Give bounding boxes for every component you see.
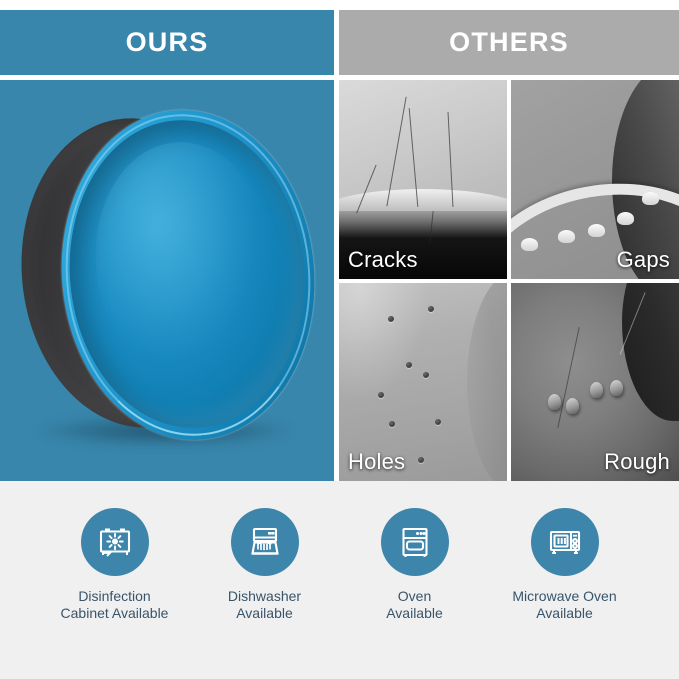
defect-cell-rough: Rough: [511, 283, 679, 482]
rough-bump: [548, 394, 561, 410]
feature-label-disinfection-cabinet: Disinfection Cabinet Available: [61, 588, 169, 622]
pinhole: [423, 372, 429, 378]
others-defect-grid: Cracks Gaps: [339, 80, 679, 481]
ours-header-label: OURS: [126, 27, 209, 58]
gap-bump: [558, 230, 575, 243]
pinhole: [418, 457, 424, 463]
feature-label-line2: Cabinet Available: [61, 605, 169, 622]
rough-bump: [566, 398, 579, 414]
pinhole: [389, 421, 395, 427]
ours-product-panel: [0, 80, 334, 481]
gap-bump: [617, 212, 634, 225]
pinhole: [435, 419, 441, 425]
holes-edge-shadow: [467, 283, 507, 482]
microwave-oven-icon: [531, 508, 599, 576]
feature-label-microwave-oven: Microwave Oven Available: [512, 588, 616, 622]
feature-microwave-oven: Microwave Oven Available: [490, 508, 640, 622]
holes-sheen: [339, 283, 430, 402]
defect-cell-holes: Holes: [339, 283, 507, 482]
feature-label-line2: Available: [386, 605, 443, 622]
others-header-label: OTHERS: [449, 27, 569, 58]
ours-header-bar: OURS: [0, 10, 334, 75]
feature-disinfection-cabinet: Disinfection Cabinet Available: [40, 508, 190, 622]
pinhole: [388, 316, 394, 322]
defect-cell-gaps: Gaps: [511, 80, 679, 279]
feature-label-dishwasher: Dishwasher Available: [228, 588, 301, 622]
feature-strip: Disinfection Cabinet Available: [0, 481, 679, 679]
feature-label-line1: Microwave Oven: [512, 588, 616, 604]
defect-caption-gaps: Gaps: [617, 247, 670, 273]
feature-label-line1: Oven: [398, 588, 431, 604]
others-header-bar: OTHERS: [339, 10, 679, 75]
gap-bump: [588, 224, 605, 237]
product-bowl-image: [0, 80, 334, 481]
feature-label-oven: Oven Available: [386, 588, 443, 622]
feature-label-line2: Available: [512, 605, 616, 622]
defect-caption-cracks: Cracks: [348, 247, 418, 273]
rough-bump: [610, 380, 623, 396]
pinhole: [428, 306, 434, 312]
defect-caption-rough: Rough: [604, 449, 670, 475]
gap-bump: [521, 238, 538, 251]
defect-caption-holes: Holes: [348, 449, 405, 475]
defect-cell-cracks: Cracks: [339, 80, 507, 279]
oven-icon: [381, 508, 449, 576]
gap-bump: [642, 192, 659, 205]
comparison-infographic: OURS OTHERS: [0, 0, 679, 679]
feature-label-line1: Disinfection: [78, 588, 150, 604]
feature-dishwasher: Dishwasher Available: [190, 508, 340, 622]
dishwasher-icon: [231, 508, 299, 576]
feature-label-line1: Dishwasher: [228, 588, 301, 604]
rough-bump: [590, 382, 603, 398]
pinhole: [378, 392, 384, 398]
comparison-section: OURS OTHERS: [0, 0, 679, 481]
disinfection-cabinet-icon: [81, 508, 149, 576]
feature-oven: Oven Available: [340, 508, 490, 622]
feature-label-line2: Available: [228, 605, 301, 622]
